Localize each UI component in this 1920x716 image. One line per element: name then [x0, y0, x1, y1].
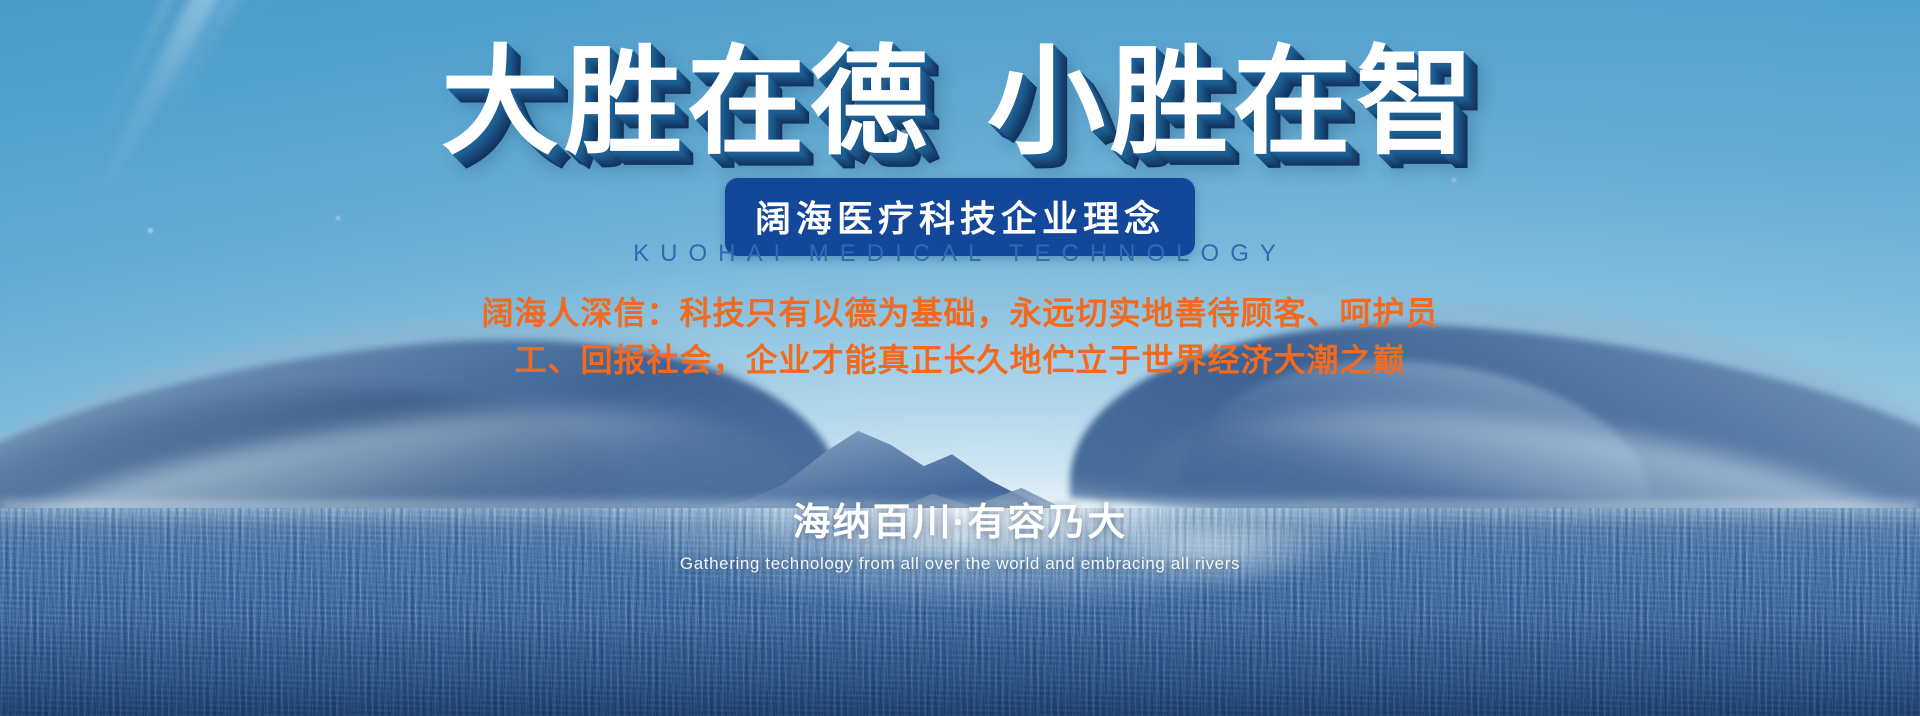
- footer-slogan-chinese: 海纳百川·有容乃大: [0, 491, 1920, 546]
- body-copy-line-2: 工、回报社会，企业才能真正长久地伫立于世界经济大潮之巅: [440, 337, 1480, 384]
- banner-content: 大胜在德小胜在智 阔海医疗科技企业理念 KUOHAI MEDICAL TECHN…: [0, 0, 1920, 716]
- english-subtitle: KUOHAI MEDICAL TECHNOLOGY: [0, 240, 1920, 268]
- headline: 大胜在德小胜在智: [0, 44, 1920, 162]
- headline-part-1: 大胜在德: [441, 37, 933, 169]
- hero-banner: 大胜在德小胜在智 阔海医疗科技企业理念 KUOHAI MEDICAL TECHN…: [0, 0, 1920, 716]
- body-copy-line-1: 阔海人深信：科技只有以德为基础，永远切实地善待顾客、呵护员: [440, 290, 1480, 337]
- footer-slogan-english: Gathering technology from all over the w…: [0, 554, 1920, 574]
- body-copy: 阔海人深信：科技只有以德为基础，永远切实地善待顾客、呵护员 工、回报社会，企业才…: [440, 290, 1480, 385]
- headline-part-2: 小胜在智: [987, 37, 1479, 169]
